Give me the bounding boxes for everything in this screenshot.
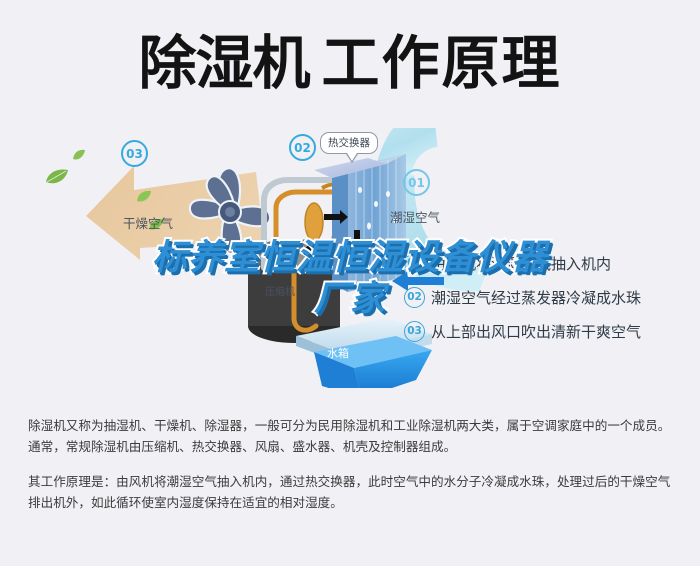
label-water-tank: 水箱 <box>327 345 349 361</box>
infographic-page: 除湿机工作原理 <box>0 0 700 566</box>
legend-label: 从上部出风口吹出清新干爽空气 <box>431 321 641 342</box>
page-title: 除湿机工作原理 <box>0 30 700 96</box>
label-compressor: 压缩机 <box>265 283 295 298</box>
page-title-part1: 除湿机 <box>138 29 309 97</box>
legend-number: 02 <box>404 287 425 308</box>
page-title-part2: 工作原理 <box>322 29 562 97</box>
legend-label: 由风机将潮湿空气抽入机内 <box>431 253 611 274</box>
marker-03: 03 <box>121 140 148 167</box>
label-dry-air: 干燥空气 <box>123 213 173 232</box>
leaf-icon <box>72 148 86 166</box>
marker-01: 01 <box>403 169 430 196</box>
label-humid-air: 潮湿空气 <box>390 207 440 226</box>
legend-item: 01 由风机将潮湿空气抽入机内 <box>404 246 694 280</box>
description-paragraph-2: 其工作原理是：由风机将潮湿空气抽入机内，通过热交换器，此时空气中的水分子冷凝成水… <box>28 471 676 513</box>
legend-number: 01 <box>404 253 425 274</box>
description-paragraph-1: 除湿机又称为抽湿机、干燥机、除湿器，一般可分为民用除湿机和工业除湿机两大类，属于… <box>28 415 676 457</box>
legend-number: 03 <box>404 321 425 342</box>
legend-label: 潮湿空气经过蒸发器冷凝成水珠 <box>431 287 641 308</box>
marker-02: 02 <box>289 134 316 161</box>
heat-exchanger-callout-label: 热交换器 <box>328 137 370 149</box>
legend-item: 02 潮湿空气经过蒸发器冷凝成水珠 <box>404 280 694 314</box>
leaf-icon <box>44 168 70 191</box>
legend-item: 03 从上部出风口吹出清新干爽空气 <box>404 314 694 348</box>
description-block: 除湿机又称为抽湿机、干燥机、除湿器，一般可分为民用除湿机和工业除湿机两大类，属于… <box>28 415 676 527</box>
legend-list: 01 由风机将潮湿空气抽入机内 02 潮湿空气经过蒸发器冷凝成水珠 03 从上部… <box>404 246 694 348</box>
heat-exchanger-callout: 热交换器 <box>320 132 378 154</box>
leaf-icon <box>136 190 152 208</box>
